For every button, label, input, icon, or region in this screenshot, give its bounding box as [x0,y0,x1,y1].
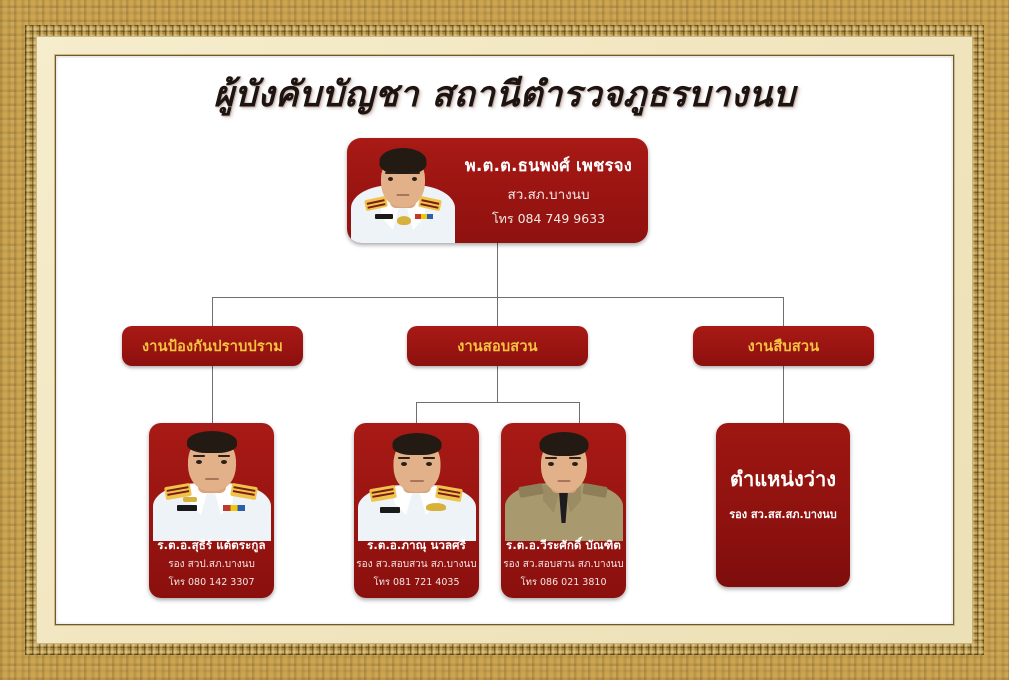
officer-photo [354,423,479,541]
officer-name: ร.ต.อ.สุธีร์ แต้ตระกูล [149,537,274,555]
officer-role: รอง สว.สอบสวน สภ.บางนบ [501,557,626,572]
connector-drop-division-2 [497,297,498,326]
officer-photo [501,423,626,541]
connector-drop-division-3 [783,297,784,326]
officer-role: รอง สวป.สภ.บางนบ [149,557,274,572]
connector-commander-stem [497,243,498,297]
division-box-inquiry[interactable]: งานสืบสวน [693,326,874,366]
connector-division2-stem [497,366,498,402]
officer-name: ร.ต.อ.วีระศักดิ์ บัณฑิต [501,537,626,555]
connector-drop-officer2 [416,402,417,424]
connector-division3-to-vacant [783,366,784,423]
officer-role: รอง สว.สอบสวน สภ.บางนบ [354,557,479,572]
officer-card-2[interactable]: ร.ต.อ.ภาณุ นวลศรี รอง สว.สอบสวน สภ.บางนบ… [354,423,479,598]
connector-officer-bus [416,402,579,403]
officer-name: ร.ต.อ.ภาณุ นวลศรี [354,537,479,555]
division-label: งานสอบสวน [457,335,538,358]
division-label: งานสืบสวน [748,335,820,358]
officer-photo [149,423,274,541]
connector-drop-division-1 [212,297,213,326]
division-box-prevention[interactable]: งานป้องกันปราบปราม [122,326,303,366]
commander-role: สว.สภ.บางนบ [459,183,638,205]
connector-drop-officer3 [579,402,580,424]
officer-card-3[interactable]: ร.ต.อ.วีระศักดิ์ บัณฑิต รอง สว.สอบสวน สภ… [501,423,626,598]
vacant-title: ตำแหน่งว่าง [730,463,836,495]
vacant-role: รอง สว.สส.สภ.บางนบ [729,505,837,523]
commander-phone: โทร 084 749 9633 [459,209,638,229]
division-label: งานป้องกันปราบปราม [142,335,283,358]
officer-card-1[interactable]: ร.ต.อ.สุธีร์ แต้ตระกูล รอง สวป.สภ.บางนบ … [149,423,274,598]
officer-phone: โทร 080 142 3307 [149,575,274,590]
commander-name: พ.ต.ต.ธนพงศ์ เพชรจง [459,153,638,179]
connector-division1-to-officer1 [212,366,213,423]
org-chart-canvas: ผู้บังคับบัญชา สถานีตำรวจภูธรบางนบ [58,58,951,622]
officer-phone: โทร 086 021 3810 [501,575,626,590]
page-title: ผู้บังคับบัญชา สถานีตำรวจภูธรบางนบ [58,72,951,118]
commander-photo [347,138,459,243]
officer-phone: โทร 081 721 4035 [354,575,479,590]
vacant-position-card[interactable]: ตำแหน่งว่าง รอง สว.สส.สภ.บางนบ [716,423,850,587]
commander-card[interactable]: พ.ต.ต.ธนพงศ์ เพชรจง สว.สภ.บางนบ โทร 084 … [347,138,648,243]
division-box-investigation[interactable]: งานสอบสวน [407,326,588,366]
